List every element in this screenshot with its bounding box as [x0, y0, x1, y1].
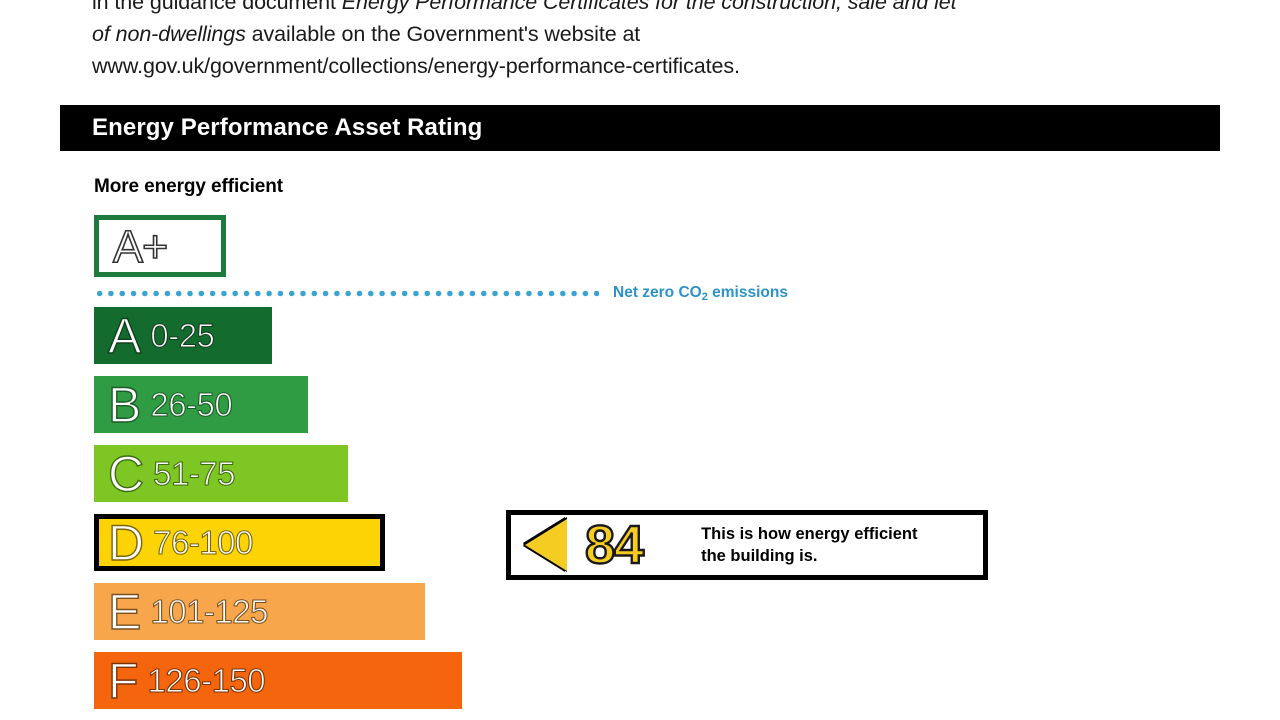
- current-rating-score-box: 84 This is how energy efficient the buil…: [506, 510, 988, 580]
- rating-band-e-range: 101-125: [150, 595, 268, 628]
- rating-band-c-letter: C: [94, 449, 143, 499]
- net-zero-marker-row: Net zero CO2 emissions: [94, 285, 854, 301]
- rating-band-b: B26-50: [94, 376, 308, 433]
- rating-band-a: A0-25: [94, 307, 272, 364]
- rating-band-d: D76-100: [94, 514, 385, 571]
- rating-band-f-range: 126-150: [148, 664, 266, 697]
- rating-band-a-plus-letter: A+: [113, 224, 167, 269]
- rating-band-b-letter: B: [94, 380, 140, 430]
- net-zero-label-tail: emissions: [708, 284, 788, 301]
- rating-band-a-letter: A: [94, 311, 140, 361]
- score-caption: This is how energy efficient the buildin…: [701, 523, 917, 567]
- rating-band-c-range: 51-75: [153, 457, 235, 490]
- energy-rating-chart: More energy efficient A+ Net zero CO2 em…: [0, 0, 1280, 720]
- rating-band-e: E101-125: [94, 583, 425, 640]
- net-zero-subscript: 2: [702, 291, 708, 303]
- rating-band-d-range: 76-100: [153, 526, 253, 559]
- score-caption-line-1: This is how energy efficient: [701, 523, 917, 545]
- rating-band-a-range: 0-25: [150, 319, 214, 352]
- rating-band-d-letter: D: [99, 518, 143, 568]
- rating-band-a-plus: A+: [94, 215, 226, 277]
- more-energy-efficient-label: More energy efficient: [94, 176, 283, 198]
- rating-band-f-letter: F: [94, 656, 138, 706]
- net-zero-label-text: Net zero CO: [613, 284, 702, 301]
- rating-band-f: F126-150: [94, 652, 462, 709]
- rating-band-c: C51-75: [94, 445, 348, 502]
- score-caption-line-2: the building is.: [701, 545, 917, 567]
- rating-band-b-range: 26-50: [150, 388, 232, 421]
- left-arrow-icon: [525, 519, 567, 571]
- net-zero-dotted-line: [94, 290, 599, 297]
- rating-band-e-letter: E: [94, 587, 140, 637]
- current-score-value: 84: [585, 518, 643, 572]
- net-zero-label: Net zero CO2 emissions: [613, 284, 788, 302]
